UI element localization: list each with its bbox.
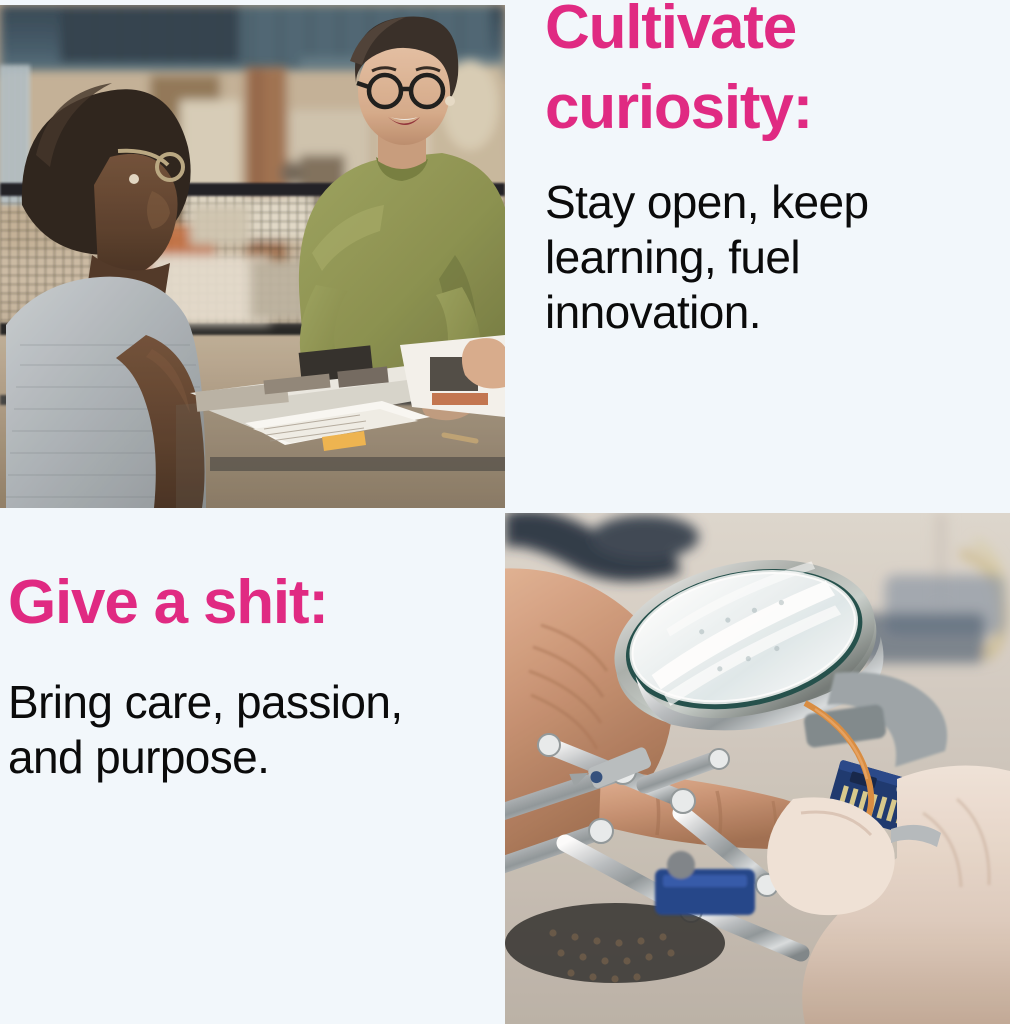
value-body-curiosity: Stay open, keep learning, fuel innovatio… <box>545 175 984 340</box>
value-headline-care: Give a shit: <box>8 563 479 643</box>
value-card-give-a-shit: Give a shit: Bring care, passion, and pu… <box>0 508 505 1024</box>
values-card-grid: Cultivate curiosity: Stay open, keep lea… <box>0 0 1010 1024</box>
value-body-care: Bring care, passion, and purpose. <box>8 675 479 785</box>
electronics-photo <box>505 513 1010 1024</box>
collaboration-photo <box>0 5 505 508</box>
value-card-cultivate-curiosity: Cultivate curiosity: Stay open, keep lea… <box>505 0 1010 508</box>
value-headline-curiosity: Cultivate curiosity: <box>545 0 984 148</box>
